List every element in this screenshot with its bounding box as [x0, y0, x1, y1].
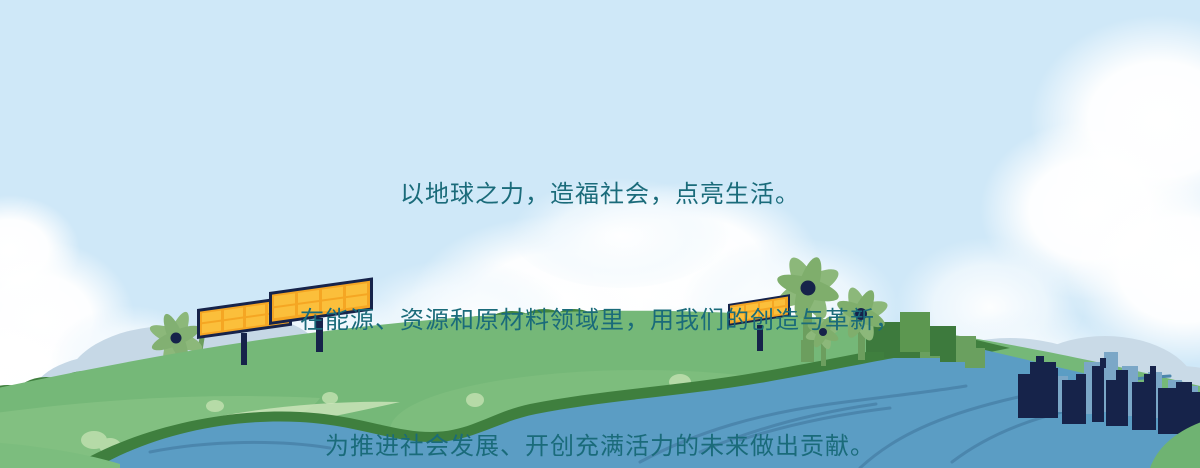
eco-energy-hero-banner: 以地球之力，造福社会，点亮生活。 在能源、资源和原材料领域里，用我们的创造与革新… [0, 0, 1200, 468]
illustration-scene [0, 0, 1200, 468]
